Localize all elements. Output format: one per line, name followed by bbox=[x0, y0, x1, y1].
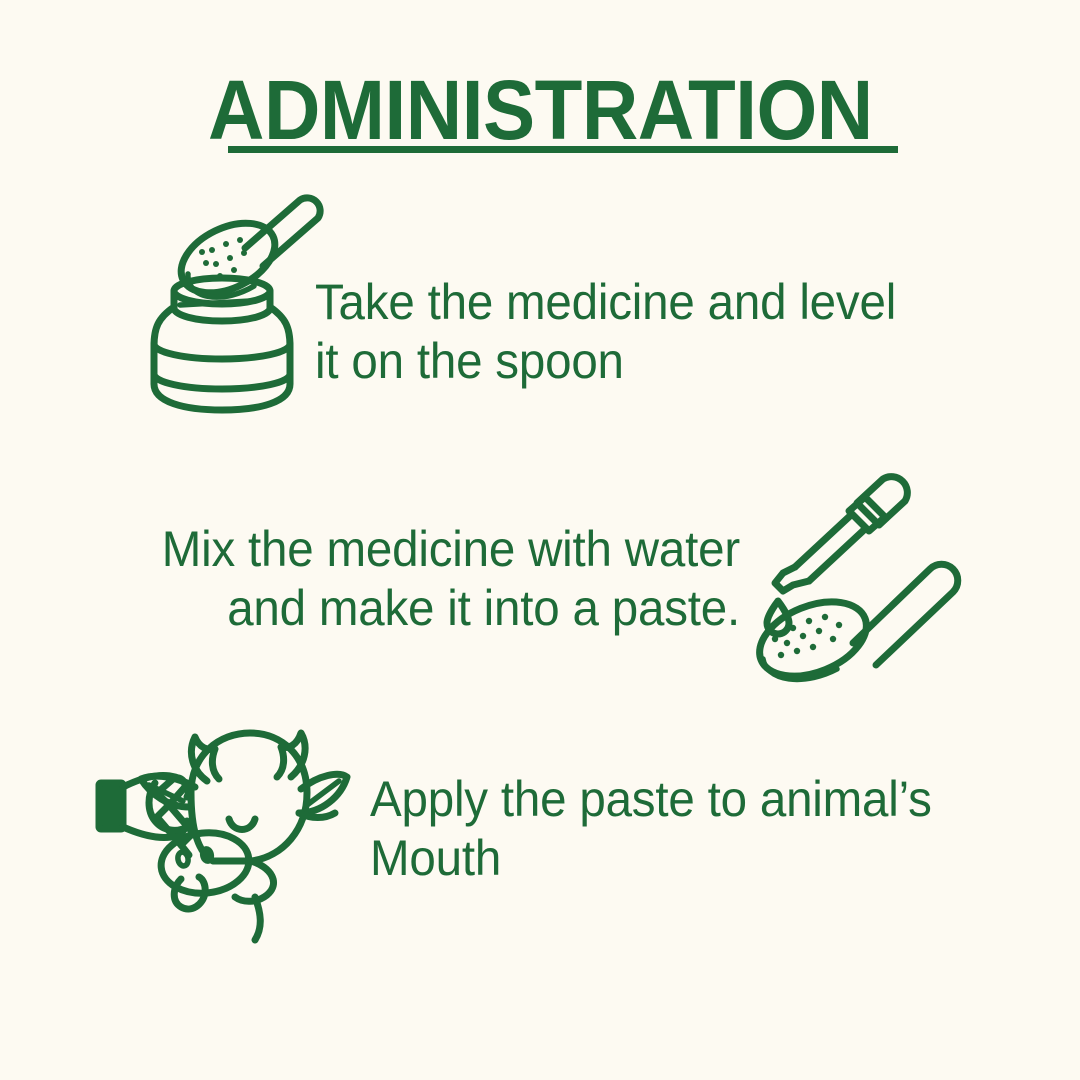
step-2: Mix the medicine with water and make it … bbox=[90, 465, 990, 680]
page-title-underline bbox=[228, 146, 898, 153]
administration-infographic: ADMINISTRATION bbox=[0, 0, 1080, 1080]
dropper-and-spoon-icon bbox=[745, 473, 980, 673]
step-3: Apply the paste to animal’s Mouth bbox=[95, 715, 1015, 945]
step-2-text: Mix the medicine with water and make it … bbox=[123, 520, 741, 638]
step-1: Take the medicine and level it on the sp… bbox=[150, 178, 980, 418]
step-1-text: Take the medicine and level it on the sp… bbox=[315, 273, 961, 391]
page-title: ADMINISTRATION bbox=[202, 68, 878, 152]
step-3-text: Apply the paste to animal’s Mouth bbox=[370, 770, 978, 888]
page-title-container: ADMINISTRATION bbox=[0, 68, 1080, 152]
hand-applying-paste-to-cow-icon bbox=[95, 715, 350, 940]
